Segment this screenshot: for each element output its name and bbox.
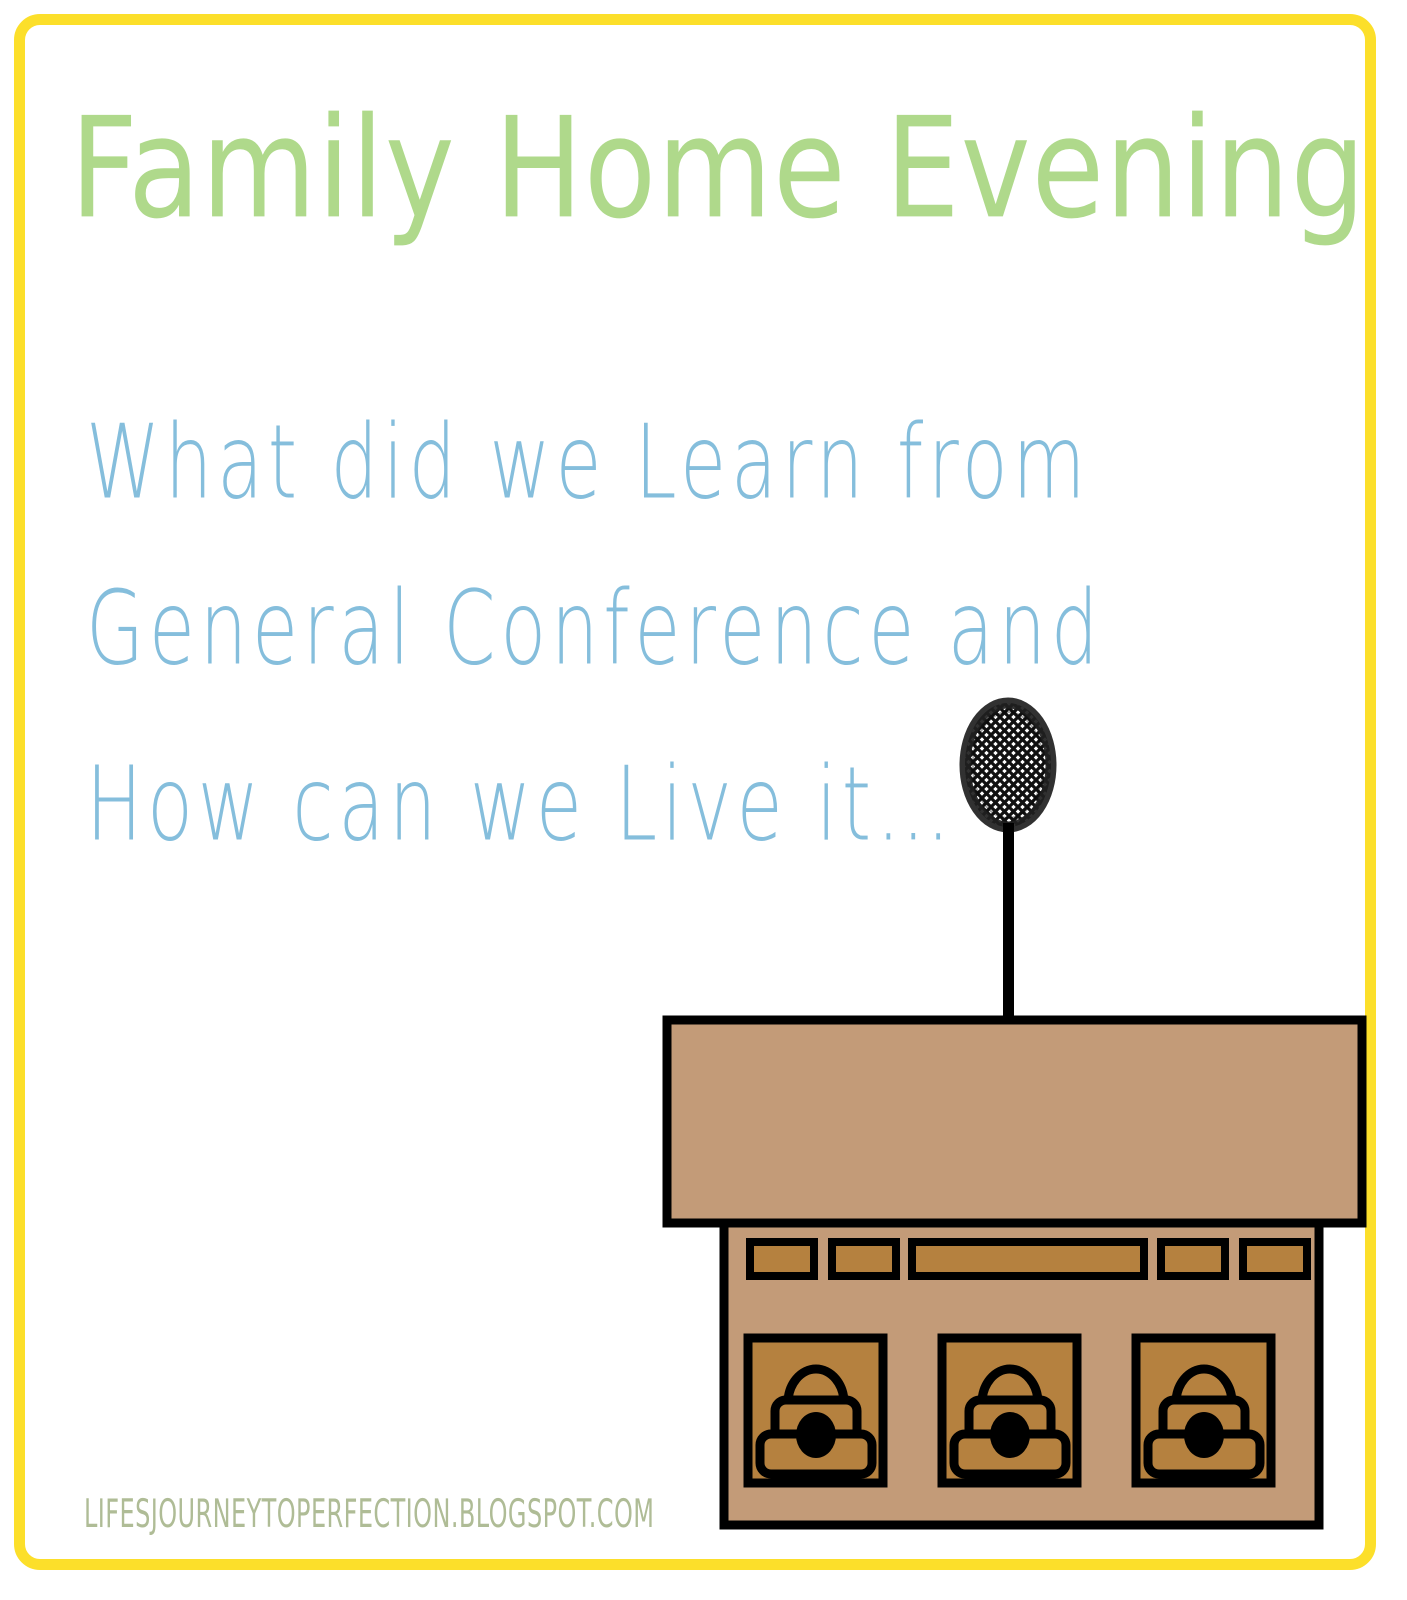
watermark-url: LIFESJOURNEYTOPERFECTION.BLOGSPOT.COM: [84, 1492, 654, 1537]
transom-band-2: [832, 1242, 896, 1276]
transom-band-1: [750, 1242, 814, 1276]
door-knob-2: [990, 1412, 1030, 1458]
building-roof-block: [667, 1020, 1362, 1223]
transom-band-group: [750, 1242, 1307, 1276]
door-panel-group: [748, 1338, 1271, 1483]
transom-band-wide: [912, 1242, 1144, 1276]
antenna-dish-icon: [965, 703, 1051, 827]
door-knob-3: [1184, 1412, 1224, 1458]
transom-band-4: [1161, 1242, 1225, 1276]
door-panel-3: [1136, 1338, 1271, 1483]
door-panel-1: [748, 1338, 883, 1483]
door-panel-2: [942, 1338, 1077, 1483]
transom-band-5: [1243, 1242, 1307, 1276]
subtitle-line-1: What did we Learn from: [86, 404, 1090, 523]
subtitle-line-2: General Conference and: [86, 570, 1103, 689]
antenna-pole-icon: [1003, 823, 1014, 1025]
conference-center-illustration: [640, 690, 1380, 1540]
page-title: Family Home Evening on: [70, 96, 1320, 242]
poster-canvas: Family Home Evening on What did we Learn…: [0, 0, 1407, 1600]
door-knob-1: [796, 1412, 836, 1458]
